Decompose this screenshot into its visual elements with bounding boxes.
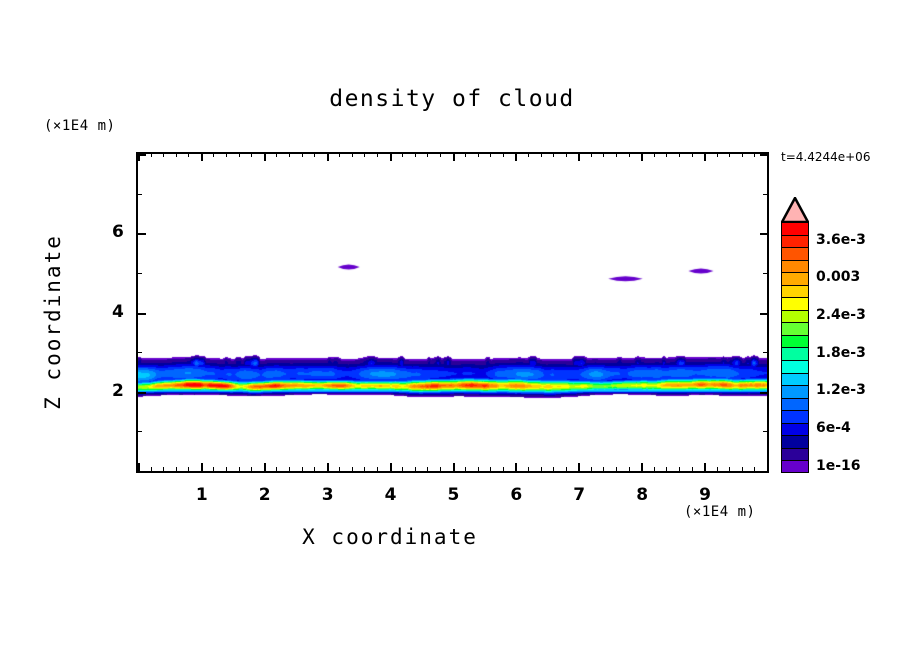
y-tick-label-2: 2 bbox=[112, 381, 124, 401]
x-tick-label-6: 6 bbox=[510, 485, 522, 505]
x-tick-label-7: 7 bbox=[573, 485, 585, 505]
colorbar-tick-label: 1e-16 bbox=[816, 458, 861, 474]
x-tick-label-5: 5 bbox=[448, 485, 460, 505]
y-tick-label-6: 6 bbox=[112, 222, 124, 242]
x-tick-label-1: 1 bbox=[196, 485, 208, 505]
colorbar-tick-label: 6e-4 bbox=[816, 420, 851, 436]
x-tick-label-3: 3 bbox=[322, 485, 334, 505]
x-tick-label-9: 9 bbox=[699, 485, 711, 505]
colorbar-tick-label: 1.8e-3 bbox=[816, 345, 866, 361]
colorbar-tick-label: 1.2e-3 bbox=[816, 382, 866, 398]
colorbar-tick-label: 2.4e-3 bbox=[816, 307, 866, 323]
colorbar-labels: 1e-166e-41.2e-31.8e-32.4e-30.0033.6e-3 bbox=[0, 0, 904, 654]
x-tick-label-8: 8 bbox=[636, 485, 648, 505]
x-tick-label-2: 2 bbox=[259, 485, 271, 505]
y-tick-label-4: 4 bbox=[112, 302, 124, 322]
colorbar-tick-label: 3.6e-3 bbox=[816, 232, 866, 248]
x-tick-label-4: 4 bbox=[385, 485, 397, 505]
colorbar-tick-label: 0.003 bbox=[816, 269, 860, 285]
